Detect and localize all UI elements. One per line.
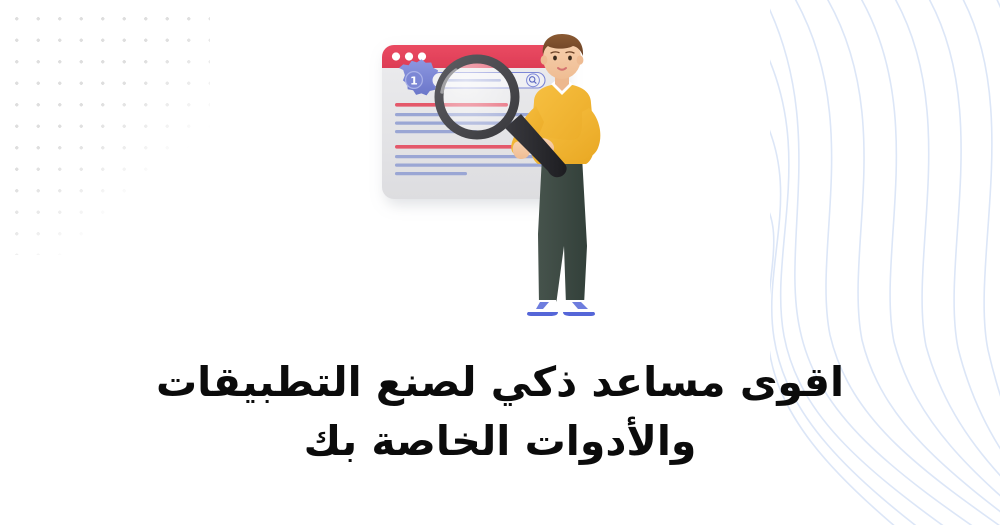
character-eye-left: [553, 56, 557, 61]
dot-pattern-decoration: [0, 0, 210, 255]
character-shoe-right: [563, 300, 596, 316]
hero-illustration: 1: [360, 24, 660, 344]
character-trousers: [538, 156, 587, 305]
headline-line-1: اقوى مساعد ذكي لصنع التطبيقات: [90, 352, 910, 413]
character-shoe-left: [526, 300, 558, 316]
headline-line-2: والأدوات الخاصة بك: [90, 411, 910, 472]
page-title: اقوى مساعد ذكي لصنع التطبيقات والأدوات ا…: [0, 352, 1000, 471]
window-dot-3: [418, 52, 426, 60]
badge-number: 1: [410, 74, 418, 87]
window-dot-2: [405, 52, 413, 60]
character-eye-right: [568, 56, 572, 61]
promo-banner: 1: [0, 0, 1000, 525]
window-dot-1: [392, 52, 400, 60]
